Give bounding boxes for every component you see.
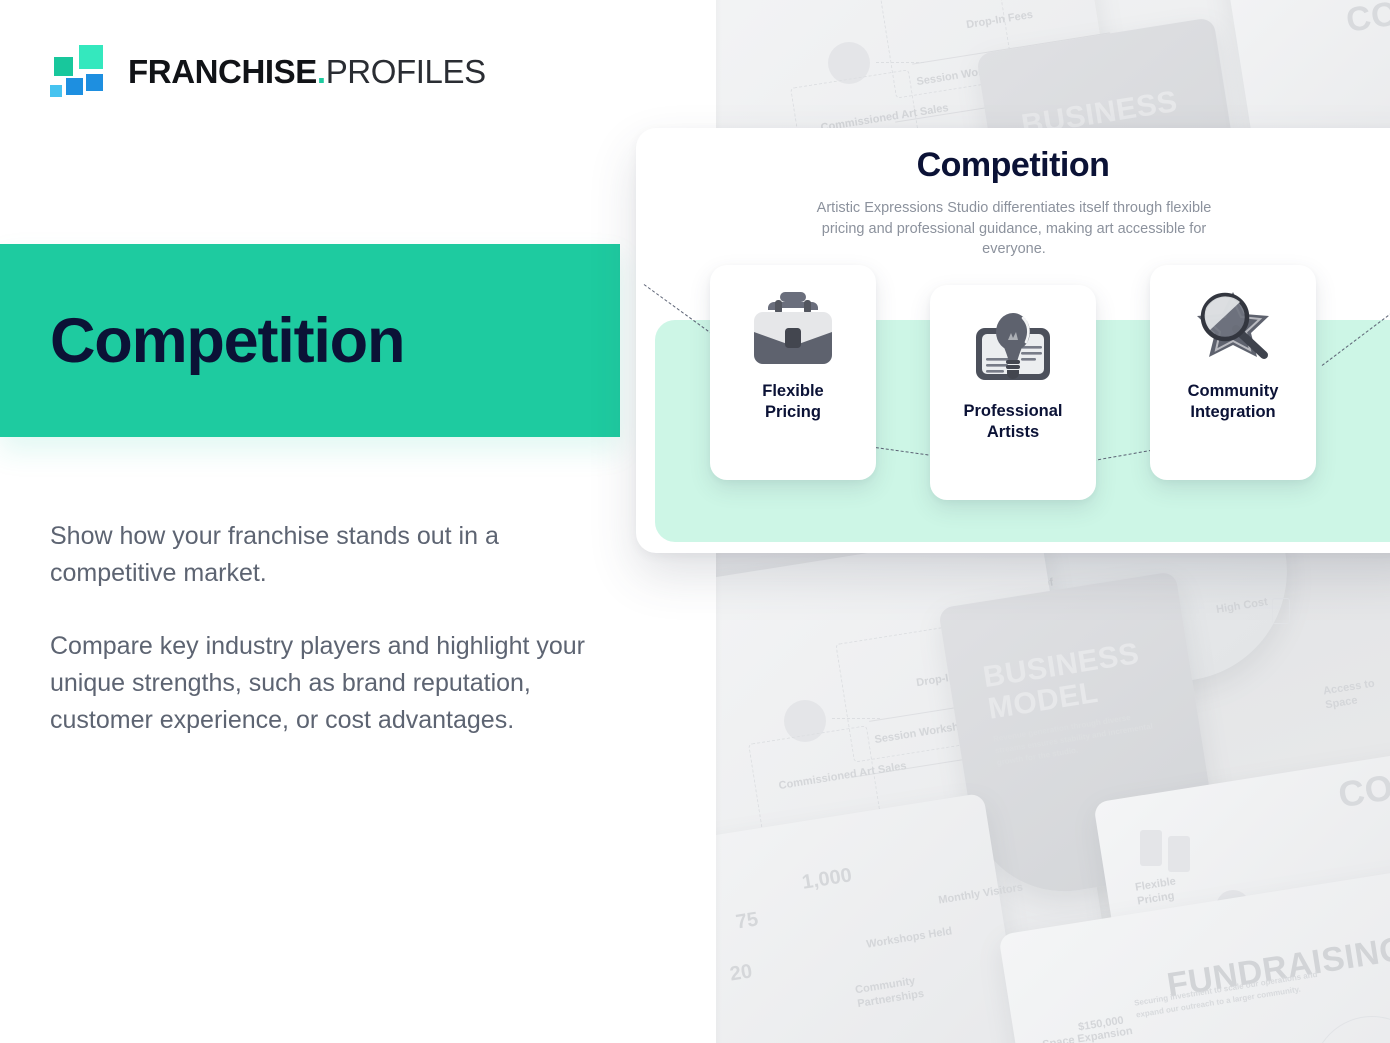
logo-word-dot: . <box>317 53 326 90</box>
bg-metric-value-2: 20 <box>728 960 754 986</box>
briefcase-icon <box>744 283 842 375</box>
feature-label-line1: Flexible <box>762 382 823 400</box>
logo-square-3 <box>66 78 83 95</box>
bg-dash <box>876 62 924 63</box>
feature-label: Professional Artists <box>963 401 1062 443</box>
slide-preview-card[interactable]: Competition Artistic Expressions Studio … <box>636 128 1390 553</box>
logo-mark-icon <box>48 45 106 97</box>
brand-logo[interactable]: FRANCHISE.PROFILES <box>48 45 486 97</box>
description-paragraph-1: Show how your franchise stands out in a … <box>50 518 630 592</box>
feature-card-professional-artists[interactable]: Professional Artists <box>930 285 1096 500</box>
logo-square-4 <box>50 85 62 97</box>
feature-label-line2: Artists <box>987 423 1039 441</box>
bg-bar-icon <box>1140 830 1162 866</box>
preview-title: Competition <box>636 146 1390 185</box>
feature-label-line1: Professional <box>963 402 1062 420</box>
lightbulb-board-icon <box>964 303 1062 395</box>
logo-square-1 <box>79 45 103 69</box>
feature-label-line2: Pricing <box>765 403 821 421</box>
bg-dash <box>832 718 880 719</box>
description-block: Show how your franchise stands out in a … <box>50 518 630 739</box>
star-magnifier-icon <box>1184 283 1282 375</box>
bg-problem-item-3: Access to Space <box>1322 675 1390 713</box>
feature-label-line1: Community <box>1188 382 1279 400</box>
preview-subtitle: Artistic Expressions Studio differentiat… <box>812 198 1216 260</box>
logo-wordmark: FRANCHISE.PROFILES <box>128 55 486 88</box>
description-paragraph-2: Compare key industry players and highlig… <box>50 628 630 739</box>
logo-square-2 <box>86 74 103 91</box>
page-title: Competition <box>50 305 404 377</box>
feature-card-community-integration[interactable]: Community Integration <box>1150 265 1316 480</box>
bg-ring <box>1272 598 1290 624</box>
feature-card-flexible-pricing[interactable]: Flexible Pricing <box>710 265 876 480</box>
feature-label: Community Integration <box>1188 381 1279 423</box>
logo-square-0 <box>54 57 73 76</box>
logo-word-light: PROFILES <box>326 53 486 90</box>
bg-metric-value-1: 75 <box>734 908 760 934</box>
feature-label: Flexible Pricing <box>762 381 823 423</box>
logo-word-bold: FRANCHISE <box>128 53 317 90</box>
bg-bar-icon <box>1168 836 1190 872</box>
bg-comp-wordmark-top: COMP <box>1344 0 1390 40</box>
feature-label-line2: Integration <box>1190 403 1275 421</box>
